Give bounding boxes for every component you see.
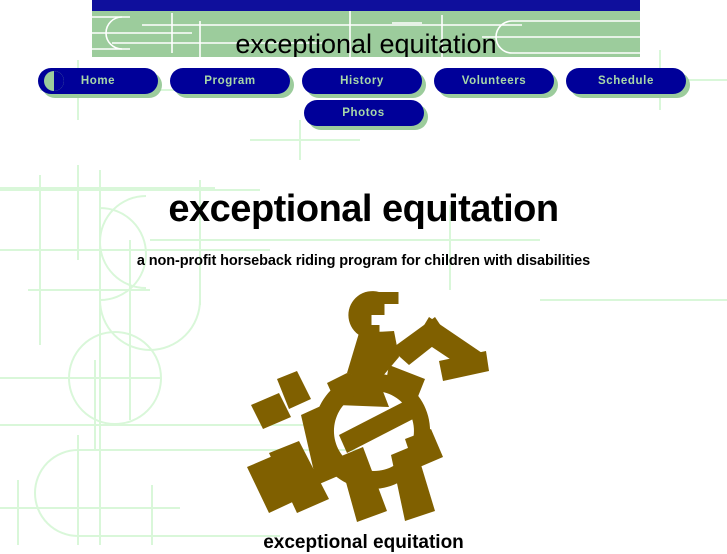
nav-button-label: Volunteers bbox=[462, 75, 527, 87]
page-title: exceptional equitation bbox=[0, 155, 727, 231]
nav-button-label: Home bbox=[81, 75, 115, 87]
nav-button-label: Schedule bbox=[598, 75, 654, 87]
nav-button-label: History bbox=[340, 75, 384, 87]
main-navigation: Home Program History Volunteers Schedule… bbox=[0, 68, 727, 132]
site-banner: exceptional equitation bbox=[92, 0, 640, 57]
nav-button-volunteers[interactable]: Volunteers bbox=[434, 68, 554, 94]
nav-button-photos[interactable]: Photos bbox=[304, 100, 424, 126]
logo-container bbox=[0, 287, 727, 522]
nav-button-history[interactable]: History bbox=[302, 68, 422, 94]
banner-title: exceptional equitation bbox=[92, 22, 640, 57]
banner-navy-strip bbox=[92, 0, 640, 11]
footer-title: exceptional equitation bbox=[0, 522, 727, 554]
nav-button-schedule[interactable]: Schedule bbox=[566, 68, 686, 94]
nav-row-primary: Home Program History Volunteers Schedule bbox=[0, 68, 727, 94]
horseback-rider-logo-icon bbox=[239, 287, 489, 522]
banner-green-panel: exceptional equitation bbox=[92, 11, 640, 57]
nav-button-home[interactable]: Home bbox=[38, 68, 158, 94]
nav-button-program[interactable]: Program bbox=[170, 68, 290, 94]
main-content: exceptional equitation a non-profit hors… bbox=[0, 155, 727, 554]
nav-row-secondary: Photos bbox=[0, 100, 727, 126]
nav-button-label: Program bbox=[204, 75, 256, 87]
half-circle-indicator-icon bbox=[44, 71, 64, 91]
nav-button-label: Photos bbox=[342, 107, 385, 119]
page-tagline: a non-profit horseback riding program fo… bbox=[0, 231, 727, 269]
